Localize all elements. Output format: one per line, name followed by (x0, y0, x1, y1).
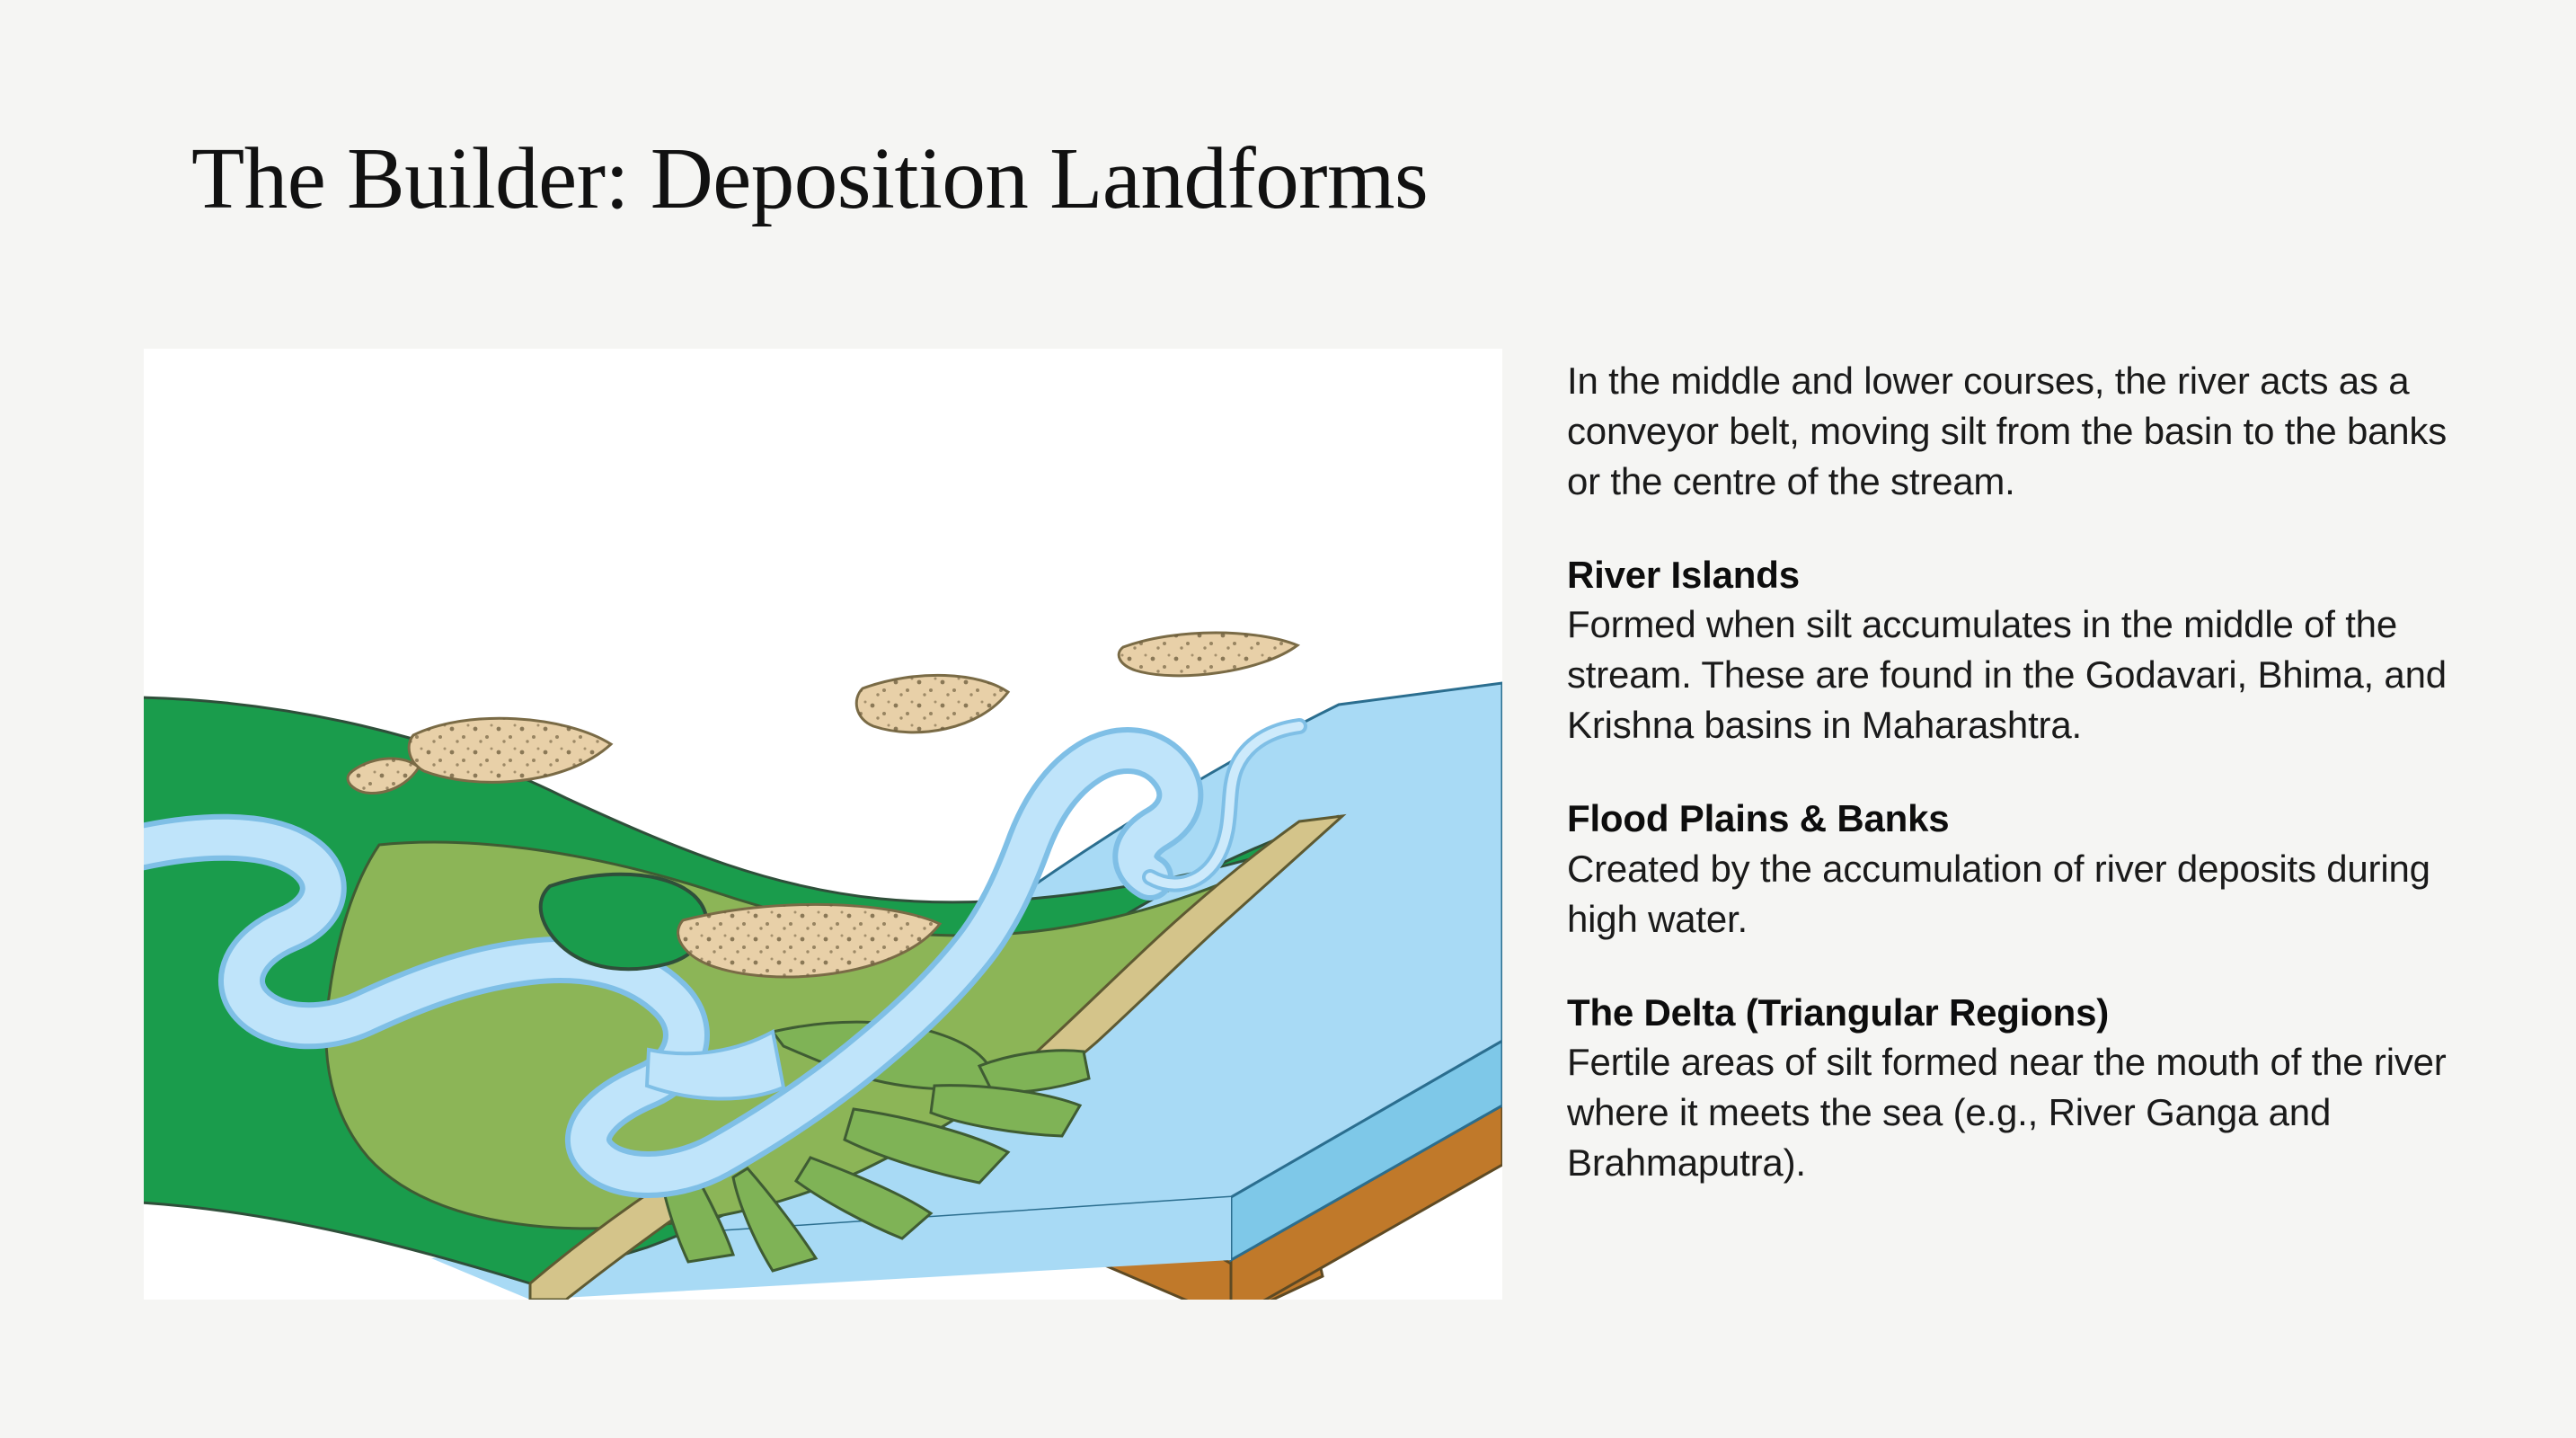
section-body-flood-plains: Created by the accumulation of river dep… (1567, 844, 2474, 945)
section-body-delta: Fertile areas of silt formed near the mo… (1567, 1037, 2474, 1188)
section-heading-river-islands: River Islands (1567, 550, 2474, 600)
explanation-column: In the middle and lower courses, the riv… (1567, 356, 2474, 1188)
page-title: The Builder: Deposition Landforms (191, 135, 1428, 222)
river-deposition-diagram (144, 349, 1502, 1300)
section-flood-plains: Flood Plains & Banks Created by the accu… (1567, 794, 2474, 945)
section-heading-flood-plains: Flood Plains & Banks (1567, 794, 2474, 844)
section-delta: The Delta (Triangular Regions) Fertile a… (1567, 988, 2474, 1188)
section-body-river-islands: Formed when silt accumulates in the midd… (1567, 599, 2474, 750)
section-heading-delta: The Delta (Triangular Regions) (1567, 988, 2474, 1038)
illustration-card (144, 349, 1502, 1300)
section-river-islands: River Islands Formed when silt accumulat… (1567, 550, 2474, 750)
intro-paragraph: In the middle and lower courses, the riv… (1567, 356, 2474, 507)
